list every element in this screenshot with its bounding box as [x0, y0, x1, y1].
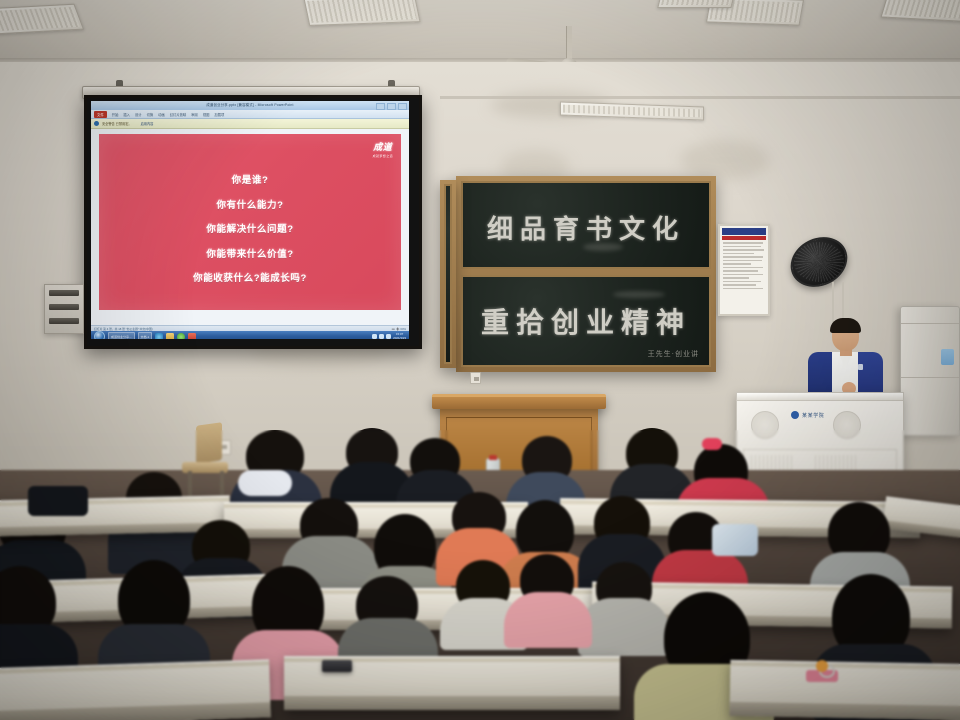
- notice-line: [723, 249, 764, 251]
- lecture-hall-photo: 成道创业分享.pptx [兼容模式] - Microsoft PowerPoin…: [0, 0, 960, 720]
- slide-logo-subtitle: 成就梦想之道: [373, 154, 393, 158]
- ac-seam: [901, 377, 959, 378]
- ac-seam: [901, 323, 959, 324]
- podium-emblem-right: [833, 411, 861, 439]
- slide-logo: 成道 成就梦想之道: [373, 140, 393, 158]
- fan-pull-cord[interactable]: [842, 282, 844, 318]
- slide-line-1: 你是谁?: [99, 172, 401, 186]
- wall-fan-cords: [826, 238, 884, 286]
- tab-addins[interactable]: 加载项: [214, 112, 224, 117]
- teacher-desk: [440, 400, 598, 481]
- breaker-switch[interactable]: [49, 318, 79, 324]
- security-warning-text: 安全警告 已禁用宏。: [102, 121, 132, 126]
- hair-tie: [702, 438, 722, 450]
- network-icon[interactable]: [386, 334, 391, 339]
- tab-file[interactable]: 文件: [94, 111, 107, 118]
- close-icon[interactable]: [398, 103, 407, 110]
- notice-line: [723, 270, 758, 272]
- blackboard: 细品育书文化 重拾创业精神 王先生·创业讲: [456, 176, 716, 372]
- chair-leg: [220, 471, 224, 495]
- blackboard-signature: 王先生·创业讲: [648, 349, 699, 359]
- podium-logo: 某某学院: [791, 411, 824, 419]
- notice-line: [723, 281, 761, 283]
- tab-animations[interactable]: 动画: [158, 112, 165, 117]
- notice-line: [723, 263, 751, 265]
- enable-content-button[interactable]: 启用内容: [141, 121, 154, 126]
- audience-body-pink: [504, 592, 592, 648]
- blackboard-panel-bottom: 重拾创业精神 王先生·创业讲: [461, 275, 711, 367]
- teacher-desk-top: [432, 394, 606, 409]
- audience-scarf: [238, 470, 292, 496]
- desk-edge: [284, 696, 620, 710]
- chalk-dust: [613, 291, 665, 298]
- window-title-bar: 成道创业分享.pptx [兼容模式] - Microsoft PowerPoin…: [91, 101, 409, 110]
- ceiling-light-panel: [657, 0, 736, 8]
- slide-canvas[interactable]: 成道 成就梦想之道 你是谁? 你有什么能力? 你能解决什么问题? 你能带来什么价…: [91, 129, 409, 325]
- window-controls[interactable]: [376, 103, 407, 110]
- maximize-icon[interactable]: [387, 103, 396, 110]
- ac-label: [941, 349, 954, 365]
- university-crest-icon: [791, 411, 799, 419]
- ime-icon[interactable]: [372, 334, 377, 339]
- electrical-panel: [44, 284, 84, 334]
- notice-line: [723, 284, 756, 286]
- notice-line: [723, 267, 763, 269]
- tab-transitions[interactable]: 切换: [147, 112, 154, 117]
- chair-leg: [188, 471, 192, 497]
- desk-edge: [0, 703, 271, 720]
- status-bar-left: 幻灯片 第 4 张，共 18 张 "办公主题" 中文(中国): [94, 327, 153, 331]
- podium-emblem-left: [751, 411, 779, 439]
- plastic-bag[interactable]: [712, 524, 758, 556]
- window-title: 成道创业分享.pptx [兼容模式] - Microsoft PowerPoin…: [206, 103, 293, 107]
- smartphone[interactable]: [322, 660, 352, 672]
- ceiling-light-panel: [0, 4, 84, 35]
- taskbar-item-folder[interactable]: 文档-1: [138, 332, 153, 340]
- notice-line: [723, 256, 763, 258]
- tab-view[interactable]: 视图: [203, 112, 210, 117]
- zoom-control[interactable]: ➖ ➕ 60%: [392, 327, 406, 331]
- tab-insert[interactable]: 插入: [123, 112, 130, 117]
- tab-design[interactable]: 设计: [135, 112, 142, 117]
- breaker-switch[interactable]: [49, 304, 79, 310]
- slide-question-list: 你是谁? 你有什么能力? 你能解决什么问题? 你能带来什么价值? 你能收获什么?…: [99, 172, 401, 295]
- tab-home[interactable]: 开始: [112, 112, 119, 117]
- blackboard-left-edge: [440, 180, 456, 368]
- notice-board-subheader: [722, 236, 766, 240]
- notice-line: [723, 260, 762, 262]
- notice-line: [723, 288, 763, 290]
- speaker-hair: [830, 318, 861, 333]
- notice-line: [723, 277, 749, 279]
- start-orb-icon[interactable]: [94, 331, 105, 339]
- folder-icon[interactable]: [166, 333, 174, 340]
- bench-desk-row-c: [730, 660, 960, 720]
- taskbar-item-browser[interactable]: 成道创业分享...: [108, 332, 135, 340]
- blackboard-panel-top: 细品育书文化: [461, 181, 711, 269]
- tab-review[interactable]: 审阅: [191, 112, 198, 117]
- notice-board-header: [722, 228, 766, 235]
- bottle-cap: [489, 455, 497, 460]
- blackboard-text-bottom: 重拾创业精神: [463, 301, 709, 341]
- bag-on-desk[interactable]: [28, 486, 88, 516]
- bench-desk-row-c: [0, 659, 271, 720]
- slide-line-3: 你能解决什么问题?: [99, 221, 401, 235]
- charm-ball: [816, 660, 828, 672]
- ceiling-light-panel: [303, 0, 420, 26]
- desk-trim: [730, 662, 960, 670]
- projection-screen: 成道创业分享.pptx [兼容模式] - Microsoft PowerPoin…: [84, 95, 422, 349]
- ceiling: [0, 0, 960, 62]
- messenger-icon[interactable]: [177, 333, 185, 340]
- powerpoint-icon[interactable]: [188, 333, 196, 340]
- tab-slideshow[interactable]: 幻灯片放映: [170, 112, 186, 117]
- shield-icon: [94, 121, 99, 126]
- slide-line-4: 你能带来什么价值?: [99, 246, 401, 260]
- notice-line: [723, 253, 754, 255]
- chair-back: [196, 422, 222, 464]
- slide-line-2: 你有什么能力?: [99, 197, 401, 211]
- internet-explorer-icon[interactable]: [155, 333, 163, 340]
- breaker-switch[interactable]: [49, 290, 79, 296]
- minimize-icon[interactable]: [376, 103, 385, 110]
- notice-line: [723, 274, 763, 276]
- blackboard-text-top: 细品育书文化: [463, 209, 709, 246]
- podium-ledge: [737, 393, 903, 401]
- notice-line: [723, 242, 763, 244]
- powerpoint-window[interactable]: 成道创业分享.pptx [兼容模式] - Microsoft PowerPoin…: [91, 101, 409, 339]
- power-outlet[interactable]: [470, 372, 481, 384]
- slide-line-5: 你能收获什么?能成长吗?: [99, 270, 401, 284]
- security-warning-bar[interactable]: 安全警告 已禁用宏。 启用内容: [91, 119, 409, 129]
- speaker-lapel-pin: [858, 364, 863, 370]
- ceiling-fan-rod: [566, 26, 572, 60]
- taskbar-clock[interactable]: 15:07 2021/3/23: [393, 333, 406, 339]
- windows-taskbar[interactable]: 成道创业分享... 文档-1 15:07 2021/3/23: [91, 331, 409, 339]
- notice-board: [718, 224, 770, 316]
- podium-logo-text: 某某学院: [802, 412, 824, 419]
- clock-date: 2021/3/23: [393, 336, 406, 340]
- ribbon-tabs[interactable]: 文件 开始 插入 设计 切换 动画 幻灯片放映 审阅 视图 加载项: [91, 110, 409, 119]
- notice-line: [723, 246, 761, 248]
- wall-conduit: [440, 96, 960, 99]
- air-conditioner-unit: [900, 306, 960, 436]
- speaker-person: [806, 320, 884, 400]
- wall-stain: [680, 140, 770, 180]
- slide-logo-mark: 成道: [373, 140, 393, 153]
- slide-surface: 成道 成就梦想之道 你是谁? 你有什么能力? 你能解决什么问题? 你能带来什么价…: [99, 134, 401, 310]
- system-tray[interactable]: 15:07 2021/3/23: [372, 333, 406, 339]
- volume-icon[interactable]: [379, 334, 384, 339]
- blackboard-side-panel: [444, 184, 452, 364]
